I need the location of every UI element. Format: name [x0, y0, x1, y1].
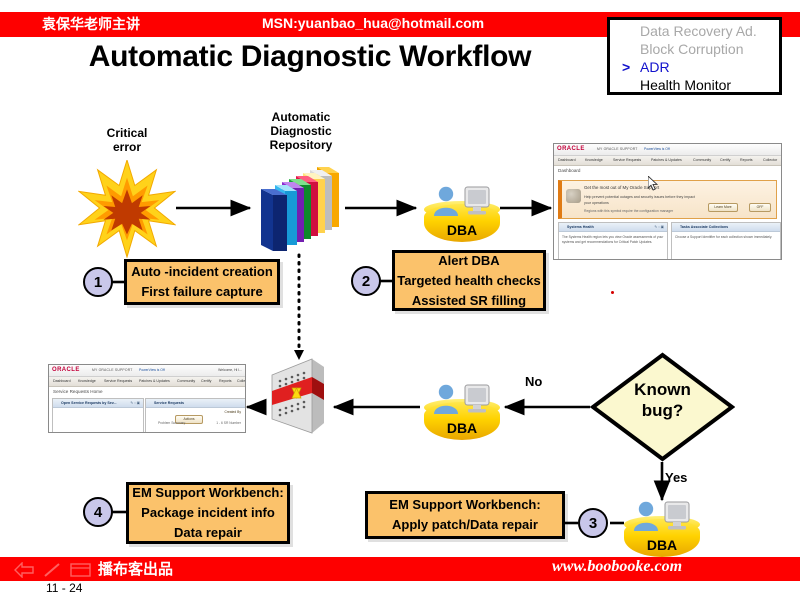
promo-banner-line3: Regions with this symbol require the con…: [584, 209, 673, 213]
powerview-status: PowerView is Off: [139, 368, 165, 372]
step-circle-2: 2: [351, 266, 381, 296]
portlet-controls-icon[interactable]: ✎ ▫ ▣: [654, 225, 664, 229]
slide-menu-icon[interactable]: [70, 562, 92, 578]
branch-label-yes: Yes: [665, 470, 687, 485]
pointer-dot: [611, 291, 614, 294]
monitor-icon: [462, 384, 492, 416]
tab-community[interactable]: Community: [177, 379, 195, 383]
portlet-controls-icon[interactable]: ✎ ▫ ▣: [130, 401, 140, 405]
portlet-systems-health[interactable]: Systems Health ✎ ▫ ▣ The Systems Health …: [558, 222, 668, 260]
tab-patches-updates[interactable]: Patches & Updates: [139, 379, 170, 383]
portlet-header: Systems Health ✎ ▫ ▣: [559, 223, 667, 232]
portlet-body: [53, 408, 143, 414]
callout-step-4: EM Support Workbench: Package incident i…: [126, 482, 290, 544]
footer-brand: 播布客出品: [98, 558, 173, 579]
tab-certify[interactable]: Certify: [201, 379, 211, 383]
tab-collector[interactable]: Collector: [237, 379, 246, 383]
tab-patches-updates[interactable]: Patches & Updates: [651, 158, 682, 162]
portlet-body: Choose a Support Identifier for each col…: [672, 232, 780, 243]
decision-label: Known bug?: [590, 379, 735, 421]
learn-more-button[interactable]: Learn More: [708, 203, 738, 212]
screenshot-service-requests[interactable]: ORACLE MY ORACLE SUPPORT PowerView is Of…: [48, 364, 246, 433]
tab-service-requests[interactable]: Service Requests: [613, 158, 641, 162]
pen-annotation-icon[interactable]: [42, 562, 62, 578]
step-circle-3: 3: [578, 508, 608, 538]
adr-books-icon: [255, 165, 343, 253]
footer-url: www.boobooke.com: [552, 558, 682, 576]
callout-step-1: Auto -incident creation First failure ca…: [124, 259, 280, 305]
oracle-logo-subtitle: MY ORACLE SUPPORT: [597, 147, 638, 151]
callout-step-2: Alert DBA Targeted health checks Assiste…: [392, 250, 546, 311]
tab-dashboard[interactable]: Dashboard: [53, 379, 71, 383]
mouse-cursor-icon: [648, 176, 660, 191]
powerview-status: PowerView is Off: [644, 147, 670, 151]
oracle-brand-bar: ORACLE MY ORACLE SUPPORT PowerView is Of…: [554, 144, 781, 156]
page-number: 11 - 24: [46, 581, 82, 595]
dba-actor-bottom: DBA: [624, 495, 700, 557]
tab-community[interactable]: Community: [693, 158, 711, 162]
portlet-body: The Systems Health region lets you view …: [559, 232, 667, 247]
megaphone-icon: [566, 189, 581, 203]
portlet-header: Tasks Associate Collections: [672, 223, 780, 232]
promo-banner: Get the most out of My Oracle Support He…: [558, 180, 777, 219]
tab-certify[interactable]: Certify: [720, 158, 730, 162]
portlet-service-requests[interactable]: Service Requests Actions Created By Prob…: [145, 398, 246, 433]
user-icon: [433, 186, 459, 216]
welcome-text: Welcome, Hi I...: [218, 368, 242, 372]
previous-slide-icon[interactable]: [14, 562, 34, 578]
column-problem-summary: Problem Summary: [158, 421, 185, 426]
promo-banner-line1: Help prevent potential outages and secur…: [584, 195, 695, 199]
dba-actor-middle: DBA: [424, 378, 500, 440]
dba-label: DBA: [624, 537, 700, 553]
monitor-icon: [662, 501, 692, 533]
tab-dashboard[interactable]: Dashboard: [558, 158, 576, 162]
column-sr-number: 1 - 6 SR Number: [216, 421, 241, 426]
oracle-tab-bar[interactable]: Dashboard Knowledge Service Requests Pat…: [554, 156, 781, 166]
screenshot-my-oracle-support[interactable]: ORACLE MY ORACLE SUPPORT PowerView is Of…: [553, 143, 782, 260]
monitor-icon: [462, 186, 492, 218]
portlet-title: Tasks Associate Collections: [680, 225, 728, 229]
critical-error-label: Critical error: [86, 126, 168, 154]
firewall-icon: [266, 357, 330, 439]
dba-label: DBA: [424, 222, 500, 238]
portlet-title: Systems Health: [567, 225, 594, 229]
tab-reports[interactable]: Reports: [740, 158, 753, 162]
decision-known-bug: Known bug?: [590, 352, 735, 462]
tab-knowledge[interactable]: Knowledge: [585, 158, 603, 162]
promo-banner-line2: your operations: [584, 201, 609, 205]
slide-canvas: 袁保华老师主讲 MSN:yuanbao_hua@hotmail.com Auto…: [0, 0, 800, 600]
dba-label: DBA: [424, 420, 500, 436]
column-created-by: Created By: [225, 410, 242, 415]
oracle-tab-bar[interactable]: Dashboard Knowledge Service Requests Pat…: [49, 377, 245, 387]
tab-collector[interactable]: Collector: [763, 158, 777, 162]
portlet-title: Open Service Requests by Sev...: [61, 401, 116, 405]
adr-label: Automatic Diagnostic Repository: [255, 110, 347, 152]
oracle-logo-subtitle: MY ORACLE SUPPORT: [92, 368, 133, 372]
portlet-header: Service Requests: [146, 399, 245, 408]
portlet-title: Service Requests: [154, 401, 184, 405]
branch-label-no: No: [525, 374, 542, 389]
oracle-logo: ORACLE: [52, 367, 80, 373]
user-icon: [633, 501, 659, 531]
step-circle-4: 4: [83, 497, 113, 527]
portlet-body: Actions Created By Problem Summary 1 - 6…: [146, 408, 245, 423]
dba-actor-top: DBA: [424, 180, 500, 242]
tab-knowledge[interactable]: Knowledge: [78, 379, 96, 383]
critical-error-star-icon: [78, 160, 176, 258]
portlet-open-service-requests-by-severity[interactable]: Open Service Requests by Sev... ✎ ▫ ▣: [52, 398, 144, 433]
oracle-brand-bar: ORACLE MY ORACLE SUPPORT PowerView is Of…: [49, 365, 245, 377]
powerview-toggle-button[interactable]: OFF: [749, 203, 771, 212]
portlet-header: Open Service Requests by Sev... ✎ ▫ ▣: [53, 399, 143, 408]
breadcrumb: Dashboard: [554, 166, 781, 178]
tab-reports[interactable]: Reports: [219, 379, 232, 383]
callout-step-3: EM Support Workbench: Apply patch/Data r…: [365, 491, 565, 539]
step-circle-1: 1: [83, 267, 113, 297]
user-icon: [433, 384, 459, 414]
tab-service-requests[interactable]: Service Requests: [104, 379, 132, 383]
portlet-tasks-associate-collections[interactable]: Tasks Associate Collections Choose a Sup…: [671, 222, 781, 260]
oracle-logo: ORACLE: [557, 146, 585, 152]
